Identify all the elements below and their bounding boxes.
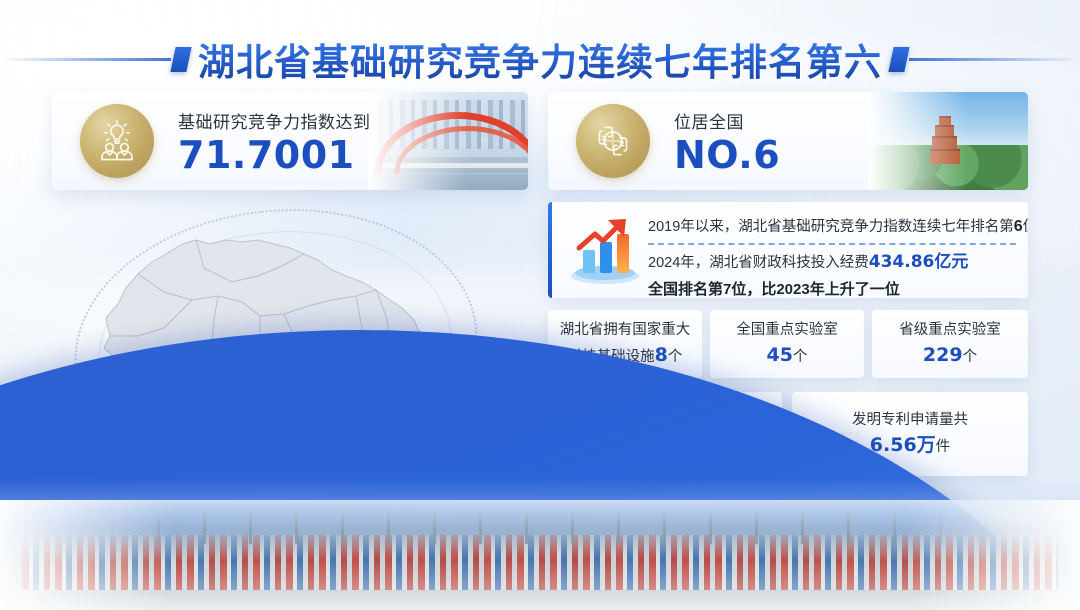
index-card-label: 基础研究竞争力指数达到	[178, 108, 371, 133]
port-edge-fade	[0, 500, 1080, 610]
stat-provincial-lab-line2: 229个	[923, 343, 977, 370]
stat-provincial-lab-number: 229	[923, 344, 963, 366]
detail-panel: 2019年以来，湖北省基础研究竞争力指数连续七年排名第6位 2024年，湖北省财…	[548, 202, 1028, 298]
stat-national-lab-number: 45	[767, 344, 793, 366]
stat-patent-line1: 发明专利申请量共	[852, 408, 968, 433]
stat-facility-line1: 湖北省拥有国家重大	[560, 318, 691, 343]
yellow-crane-tower-photo	[868, 92, 1028, 190]
stat-facility-unit: 个	[668, 349, 683, 365]
stat-national-lab-line1: 全国重点实验室	[736, 318, 838, 343]
detail-line-1-suffix: 位	[1023, 219, 1028, 235]
title-rule-left	[1, 58, 171, 61]
stat-card-provincial-lab: 省级重点实验室 229个	[872, 310, 1028, 378]
stat-provincial-lab-unit: 个	[963, 349, 978, 365]
lightbulb-people-icon	[80, 104, 154, 178]
detail-line-1: 2019年以来，湖北省基础研究竞争力指数连续七年排名第6位	[648, 212, 1016, 242]
detail-divider	[648, 243, 1016, 245]
rank-card: 位居全国 NO.6	[548, 92, 1028, 190]
stat-facility-number: 8	[655, 344, 668, 366]
detail-panel-lines: 2019年以来，湖北省基础研究竞争力指数连续七年排名第6位 2024年，湖北省财…	[648, 212, 1016, 298]
page-title: 湖北省基础研究竞争力连续七年排名第六	[0, 30, 1080, 88]
title-rule-right	[909, 58, 1079, 61]
detail-line-2-prefix: 2024年，湖北省财政科技投入经费	[648, 255, 869, 271]
detail-line-2: 2024年，湖北省财政科技投入经费434.86亿元	[648, 247, 1016, 278]
stat-patent-unit: 件	[936, 439, 951, 455]
detail-line-1-number: 6	[1014, 218, 1023, 235]
rank-card-value: NO.6	[674, 135, 780, 177]
stat-card-national-lab: 全国重点实验室 45个	[710, 310, 864, 378]
index-card-value: 71.7001	[178, 135, 371, 177]
photo-fade-mask	[368, 92, 528, 190]
title-marker-right-icon	[888, 47, 909, 72]
stat-patent-number: 6.56万	[870, 434, 936, 456]
wuhan-red-arch-bridge-photo	[368, 92, 528, 190]
infographic-canvas: 湖北省基础研究竞争力连续七年排名第六	[0, 0, 1080, 610]
bar-chart-growth-icon	[562, 216, 648, 286]
stat-national-lab-unit: 个	[793, 349, 808, 365]
rank-card-texts: 位居全国 NO.6	[674, 108, 780, 177]
teamwork-hands-icon	[576, 104, 650, 178]
detail-line-2-number: 434.86亿元	[869, 252, 969, 272]
detail-line-1-prefix: 2019年以来，湖北省基础研究竞争力指数连续七年排名第	[648, 219, 1014, 235]
title-text: 湖北省基础研究竞争力连续七年排名第六	[191, 32, 889, 86]
index-card-texts: 基础研究竞争力指数达到 71.7001	[178, 108, 371, 177]
photo-fade-mask	[868, 92, 1028, 190]
title-marker-left-icon	[170, 47, 191, 72]
stat-national-lab-line2: 45个	[767, 343, 808, 370]
index-card: 基础研究竞争力指数达到 71.7001	[52, 92, 528, 190]
panel-accent-bar	[548, 202, 552, 298]
rank-card-label: 位居全国	[674, 108, 780, 133]
aerial-port-container-terminal-photo	[0, 500, 1080, 610]
detail-line-3: 全国排名第7位，比2023年上升了一位	[648, 278, 1016, 298]
stat-provincial-lab-line1: 省级重点实验室	[899, 318, 1001, 343]
